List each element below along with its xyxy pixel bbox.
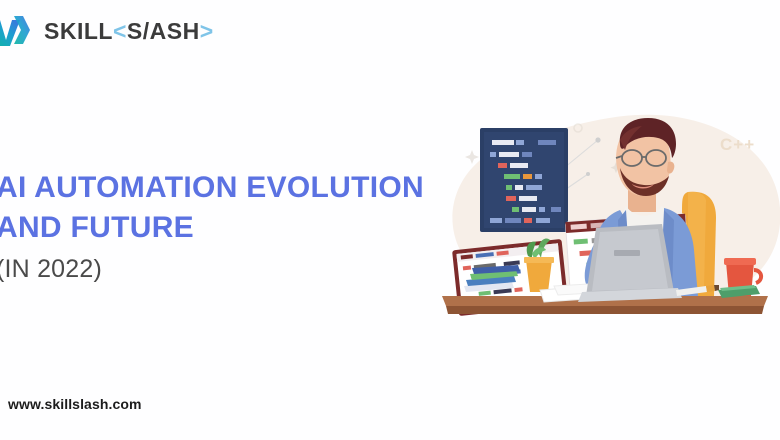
footer-website-url[interactable]: www.skillslash.com bbox=[8, 396, 142, 412]
slide-canvas: SKILL<S/ASH> AI AUTOMATION EVOLUTION AND… bbox=[0, 0, 780, 440]
developer-at-desk-illustration: C++ bbox=[420, 100, 780, 345]
brand-name-part1: SKILL bbox=[44, 20, 113, 43]
brand-logo[interactable]: SKILL<S/ASH> bbox=[0, 14, 214, 48]
desktop-monitor bbox=[480, 128, 568, 232]
headline-line-2: AND FUTURE bbox=[0, 211, 194, 244]
headline-subtitle: (IN 2022) bbox=[0, 254, 466, 284]
brand-name-part2: S/ASH bbox=[127, 20, 200, 43]
brand-wordmark: SKILL<S/ASH> bbox=[44, 20, 214, 43]
brand-angle-open: < bbox=[113, 20, 127, 43]
brand-angle-close: > bbox=[200, 20, 214, 43]
headline-title: AI AUTOMATION EVOLUTION AND FUTURE bbox=[0, 168, 466, 248]
book-stack bbox=[464, 265, 520, 292]
decor-cpp-label: C++ bbox=[720, 135, 755, 154]
headline-block: AI AUTOMATION EVOLUTION AND FUTURE (IN 2… bbox=[0, 168, 466, 284]
headline-line-1: AI AUTOMATION EVOLUTION bbox=[0, 171, 424, 204]
skillslash-chevron-mark-icon bbox=[0, 14, 36, 48]
